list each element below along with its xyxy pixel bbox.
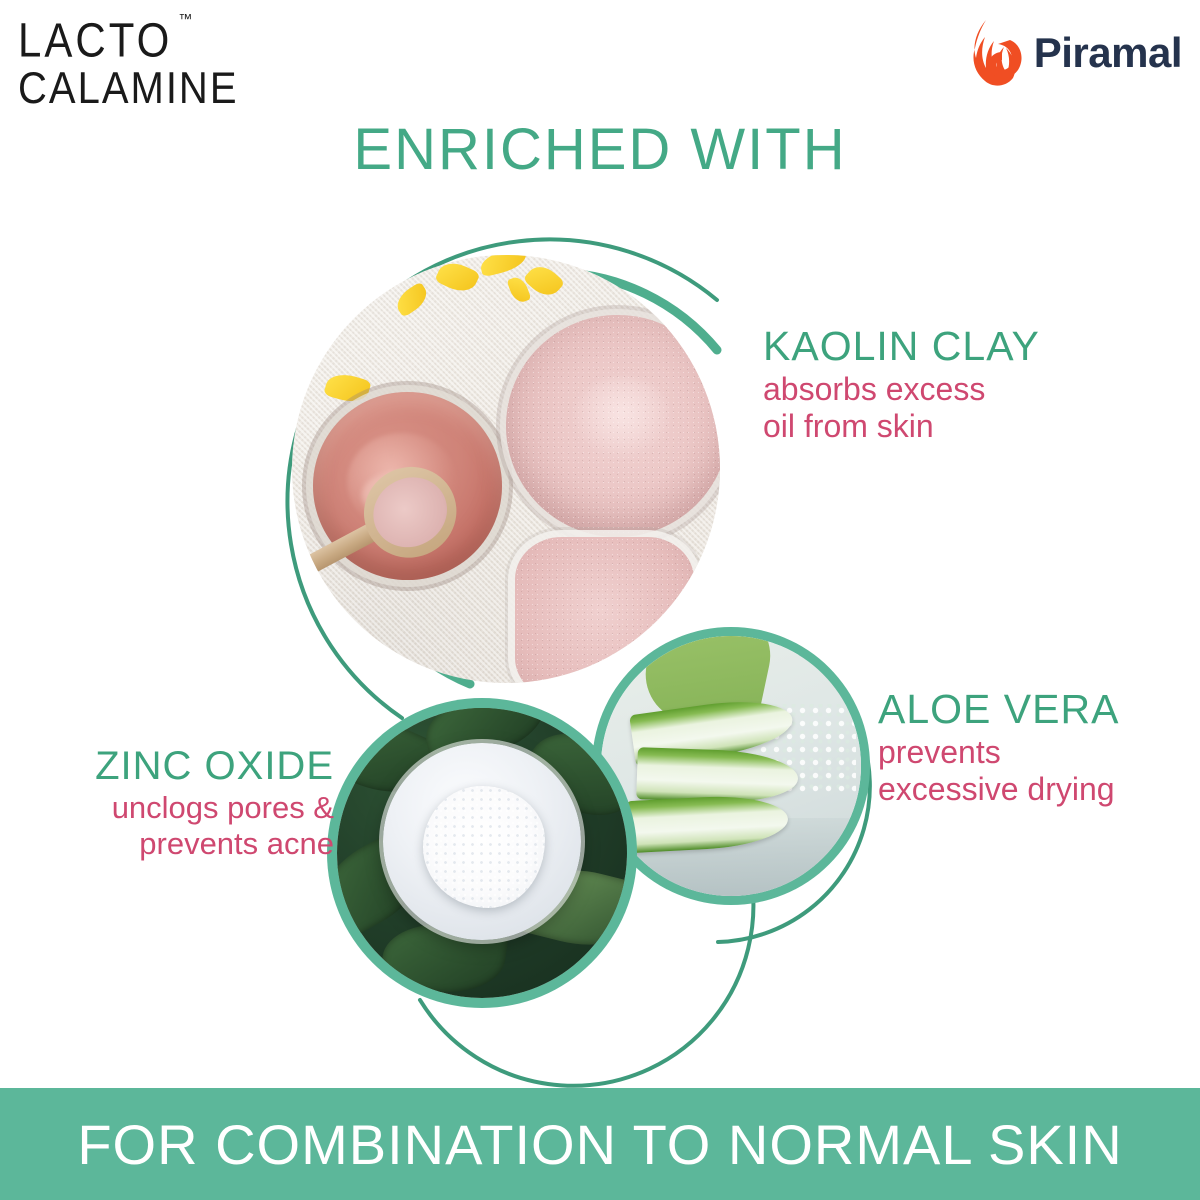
aloe-photo-background — [601, 636, 861, 896]
spoon-handle — [292, 521, 381, 605]
logo-line-1: LACTO™ — [18, 16, 172, 63]
kaolin-photo-background — [292, 255, 720, 683]
piramal-wordmark: Piramal — [1034, 29, 1182, 77]
footer-text: FOR COMBINATION TO NORMAL SKIN — [77, 1112, 1122, 1177]
ingredient-photo-zinc — [337, 708, 627, 998]
description-line: absorbs excess — [763, 371, 1040, 408]
trademark-icon: ™ — [178, 12, 192, 26]
zinc-oxide-powder — [423, 786, 545, 908]
ingredient-caption-aloe: ALOE VERA prevents excessive drying — [878, 688, 1119, 808]
ingredient-description-aloe: prevents excessive drying — [878, 734, 1119, 808]
description-line: prevents acne — [18, 826, 334, 862]
logo-line-2: CALAMINE — [18, 66, 239, 112]
ingredient-description-kaolin: absorbs excess oil from skin — [763, 371, 1040, 445]
kaolin-powder-bowl — [506, 315, 720, 538]
ingredient-photo-aloe — [601, 636, 861, 896]
ingredient-name-kaolin: KAOLIN CLAY — [763, 325, 1040, 368]
zinc-oxide-jar — [383, 743, 580, 940]
description-line: prevents — [878, 734, 1119, 771]
ingredient-photo-kaolin — [292, 255, 720, 683]
footer-banner: FOR COMBINATION TO NORMAL SKIN — [0, 1088, 1200, 1200]
description-line: excessive drying — [878, 771, 1119, 808]
ingredient-name-aloe: ALOE VERA — [878, 688, 1119, 731]
zinc-photo-background — [337, 708, 627, 998]
powder-grain-texture — [506, 315, 720, 538]
ingredient-name-zinc: ZINC OXIDE — [18, 745, 334, 787]
ingredient-description-zinc: unclogs pores & prevents acne — [18, 790, 334, 862]
lacto-calamine-logo: LACTO™ CALAMINE — [18, 16, 239, 107]
ingredient-caption-zinc: ZINC OXIDE unclogs pores & prevents acne — [18, 745, 334, 862]
page-title: ENRICHED WITH — [0, 116, 1200, 183]
infographic-canvas: LACTO™ CALAMINE Piramal ENRICHED WITH — [0, 0, 1200, 1200]
description-line: oil from skin — [763, 408, 1040, 445]
piramal-flame-icon — [966, 18, 1024, 88]
description-line: unclogs pores & — [18, 790, 334, 826]
logo-word-lacto: LACTO — [18, 13, 172, 67]
piramal-logo: Piramal — [966, 18, 1182, 88]
ingredient-caption-kaolin: KAOLIN CLAY absorbs excess oil from skin — [763, 325, 1040, 445]
